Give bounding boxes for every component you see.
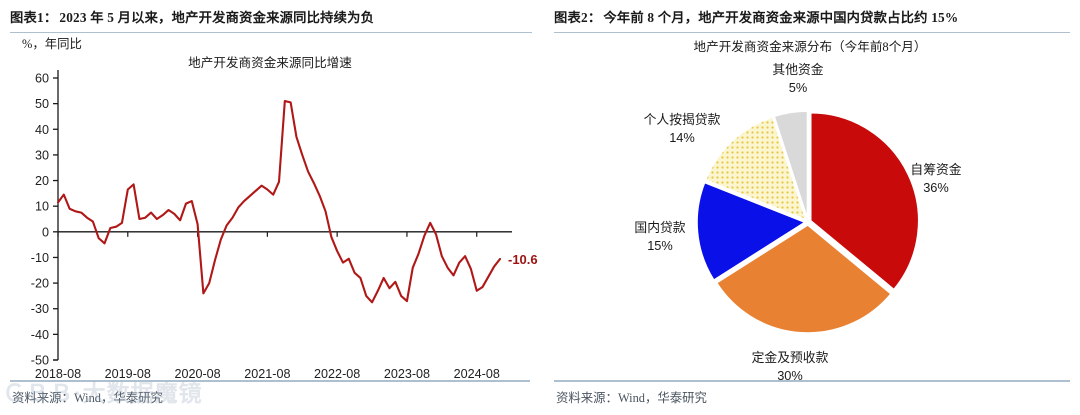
pie-label-name-3: 国内贷款	[634, 220, 685, 235]
pie-label-pct-1: 36%	[923, 180, 949, 195]
figure-pair-container: 图表1：2023 年 5 月以来，地产开发商资金来源同比持续为负 %，年同比 地…	[0, 0, 1080, 415]
pie-label-pct-5: 5%	[789, 80, 808, 95]
exhibit-2-source: 资料来源：Wind，华泰研究	[556, 388, 707, 406]
pie-chart: 自筹资金36%定金及预收款30%国内贷款15%个人按揭贷款14%其他资金5%	[540, 0, 1080, 385]
y-axis-tick-label: -30	[31, 302, 49, 316]
line-series	[58, 101, 500, 302]
pie-label-pct-3: 15%	[647, 238, 673, 253]
y-axis-tick-label: -40	[31, 328, 49, 342]
pie-label-name-2: 定金及预收款	[752, 350, 829, 365]
x-axis-tick-label: 2022-08	[314, 367, 360, 381]
y-axis-tick-label: -10	[31, 251, 49, 265]
exhibit-1-source: 资料来源：Wind，华泰研究	[12, 388, 163, 406]
y-axis-tick-label: 40	[35, 123, 49, 137]
pie-label-pct-4: 14%	[669, 130, 695, 145]
x-axis-tick-label: 2024-08	[454, 367, 500, 381]
line-chart-plot-area: -50-40-30-20-1001020304050602018-082019-…	[0, 0, 540, 385]
pie-label-name-1: 自筹资金	[910, 162, 961, 177]
pie-chart-plot-area: 自筹资金36%定金及预收款30%国内贷款15%个人按揭贷款14%其他资金5%	[540, 0, 1080, 385]
y-axis-tick-label: -20	[31, 277, 49, 291]
y-axis-tick-label: 30	[35, 148, 49, 162]
y-axis-tick-label: 10	[35, 200, 49, 214]
x-axis-tick-label: 2018-08	[35, 367, 81, 381]
line-end-value-label: -10.6	[508, 252, 538, 267]
exhibit-2-footer-rule	[554, 380, 1070, 382]
y-axis-tick-label: 60	[35, 72, 49, 86]
pie-label-name-5: 其他资金	[772, 62, 823, 77]
x-axis-tick-label: 2021-08	[244, 367, 290, 381]
line-chart: -50-40-30-20-1001020304050602018-082019-…	[0, 0, 540, 385]
x-axis-tick-label: 2023-08	[384, 367, 430, 381]
exhibit-1-panel: 图表1：2023 年 5 月以来，地产开发商资金来源同比持续为负 %，年同比 地…	[0, 0, 540, 415]
y-axis-tick-label: 20	[35, 174, 49, 188]
exhibit-2-panel: 图表2：今年前 8 个月，地产开发商资金来源中国内贷款占比约 15% 地产开发商…	[540, 0, 1080, 415]
y-axis-tick-label: -50	[31, 354, 49, 368]
pie-label-name-4: 个人按揭贷款	[644, 113, 721, 127]
x-axis-tick-label: 2019-08	[105, 367, 151, 381]
y-axis-tick-label: 50	[35, 97, 49, 111]
x-axis-tick-label: 2020-08	[174, 367, 220, 381]
y-axis-tick-label: 0	[42, 225, 49, 239]
exhibit-1-footer-rule	[10, 380, 530, 382]
